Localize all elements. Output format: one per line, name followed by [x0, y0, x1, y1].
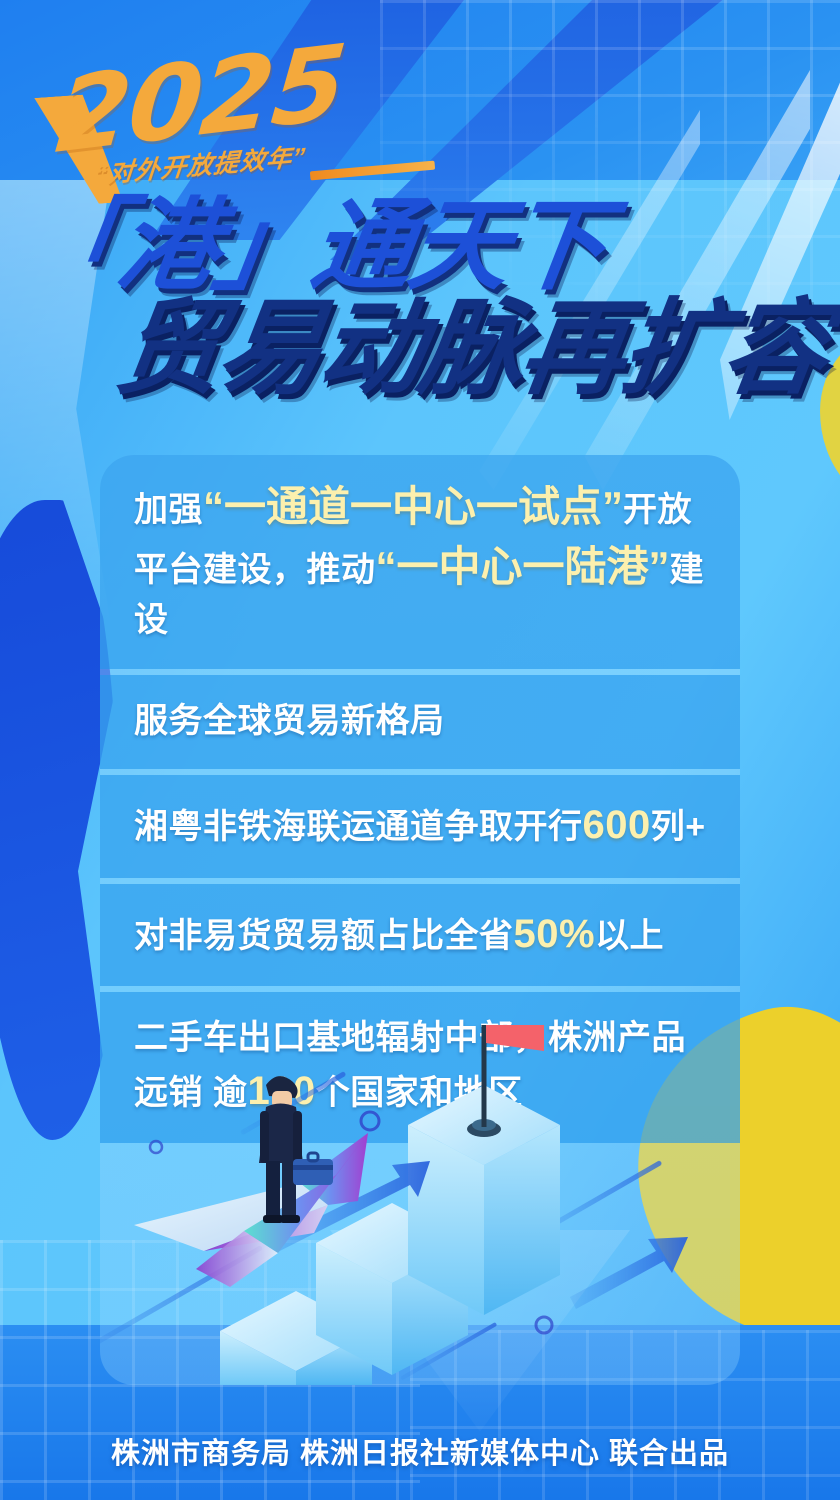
- content-row: 加强“一通道一中心一试点”开放平台建设，推动“一中心一陆港”建设: [100, 455, 740, 669]
- body-text: 以上: [595, 917, 664, 955]
- year-logo: 2025 “对外开放提效年”: [38, 42, 368, 197]
- content-row: 服务全球贸易新格局: [100, 675, 740, 769]
- highlight-text: 600: [583, 803, 651, 847]
- content-row-text: 对非易货贸易额占比全省50%以上: [134, 906, 706, 963]
- highlight-text: “一中心一陆港”: [376, 543, 670, 590]
- content-row-text: 加强“一通道一中心一试点”开放平台建设，推动“一中心一陆港”建设: [134, 477, 706, 645]
- title-line-1: 「港」通天下: [15, 196, 611, 296]
- body-text: 湘粤非铁海联运通道争取开行: [134, 808, 583, 846]
- highlight-text: “一通道一中心一试点”: [203, 483, 623, 530]
- body-text: 列+: [651, 808, 706, 846]
- body-text: 加强: [134, 491, 203, 529]
- page-title: 「港」通天下 贸易动脉再扩容: [8, 196, 838, 446]
- footer-credit-text: 株洲市商务局 株洲日报社新媒体中心 联合出品: [111, 1438, 729, 1470]
- highlight-text: 50%: [514, 912, 596, 956]
- poster-root: 2025 “对外开放提效年” 「港」通天下 贸易动脉再扩容 加强“一通道一中心一…: [0, 0, 840, 1500]
- content-card: 加强“一通道一中心一试点”开放平台建设，推动“一中心一陆港”建设服务全球贸易新格…: [100, 455, 740, 1385]
- decor-ring-1: [361, 1112, 379, 1130]
- decor-ring-2: [150, 1141, 162, 1153]
- footer-credit: 株洲市商务局 株洲日报社新媒体中心 联合出品: [0, 1430, 840, 1472]
- illustration-svg: [100, 1025, 740, 1385]
- content-row: 湘粤非铁海联运通道争取开行600列+: [100, 775, 740, 878]
- content-row-text: 湘粤非铁海联运通道争取开行600列+: [134, 797, 706, 854]
- illustration: [100, 1025, 740, 1385]
- content-row: 对非易货贸易额占比全省50%以上: [100, 884, 740, 987]
- content-row-text: 服务全球贸易新格局: [134, 697, 706, 745]
- body-text: 服务全球贸易新格局: [134, 702, 445, 740]
- body-text: 对非易货贸易额占比全省: [134, 917, 514, 955]
- decor-ring-3: [536, 1317, 552, 1333]
- title-line-2: 贸易动脉再扩容: [111, 296, 833, 400]
